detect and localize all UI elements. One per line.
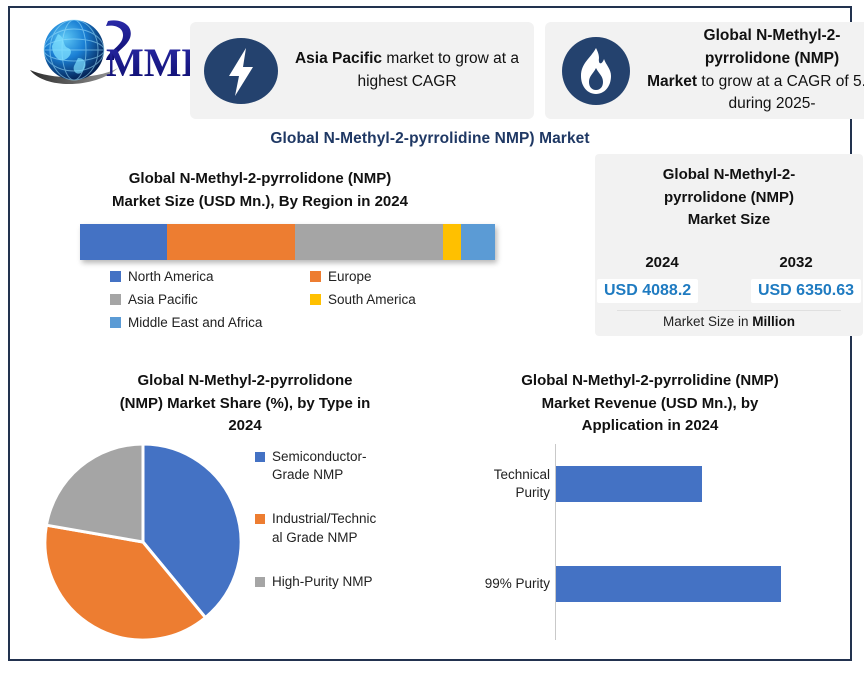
legend-label-semiconductor-grade-line2: Grade NMP: [272, 467, 343, 482]
mmr-globe-logo: MMR: [22, 14, 194, 94]
application-chart-title-line1: Global N-Methyl-2-pyrrolidine (NMP): [450, 370, 850, 393]
highlight-box-asia-pacific: Asia Pacific market to grow at a highest…: [190, 22, 534, 119]
market-size-values: USD 4088.2 USD 6350.63: [595, 279, 863, 303]
legend-label-middle-east-africa: Middle East and Africa: [128, 315, 262, 330]
region-chart-title: Global N-Methyl-2-pyrrolidone (NMP) Mark…: [50, 168, 470, 213]
legend-label-south-america: South America: [328, 292, 416, 307]
legend-item-semiconductor-grade: Semiconductor- Grade NMP: [255, 448, 435, 484]
logo-wordmark: MMR: [106, 40, 194, 85]
market-size-value-2032: USD 6350.63: [751, 279, 861, 303]
legend-swatch-south-america: [310, 294, 321, 305]
market-size-value-2024: USD 4088.2: [597, 279, 698, 303]
legend-label-industrial-technical-grade: Industrial/Technic al Grade NMP: [272, 510, 376, 546]
legend-swatch-semiconductor-grade: [255, 452, 265, 462]
legend-label-europe: Europe: [328, 269, 372, 284]
legend-label-industrial-technical-grade-line2: al Grade NMP: [272, 530, 358, 545]
pie-chart-legend: Semiconductor- Grade NMP Industrial/Tech…: [255, 448, 435, 617]
highlight-line1-cagr: Global N-Methyl-2-: [704, 27, 841, 44]
application-label-99-purity: 99% Purity: [450, 575, 556, 593]
market-size-year-start: 2024: [645, 254, 678, 271]
application-revenue-bar-chart: Technical Purity 99% Purity: [450, 444, 850, 644]
region-stacked-bar: [80, 224, 495, 260]
application-chart-title-line3: Application in 2024: [450, 415, 850, 438]
flame-icon: [557, 32, 635, 110]
application-bar-row-technical-purity: Technical Purity: [450, 466, 850, 502]
region-chart-title-line1: Global N-Methyl-2-pyrrolidone (NMP): [50, 168, 470, 191]
infographic-frame: MMR Asia Pacific market to grow at a hig…: [8, 6, 852, 661]
legend-swatch-industrial-technical-grade: [255, 514, 265, 524]
highlight-bold-cagr: Market: [647, 73, 697, 90]
pie-chart-title-line2: (NMP) Market Share (%), by Type in: [45, 393, 445, 416]
pie-chart-title-line3: 2024: [45, 415, 445, 438]
highlight-text-cagr: Global N-Methyl-2- pyrrolidone (NMP) Mar…: [635, 25, 864, 117]
legend-item-north-america: North America: [110, 269, 310, 284]
region-segment-south-america: [443, 224, 461, 260]
legend-label-asia-pacific: Asia Pacific: [128, 292, 198, 307]
type-share-pie: [42, 436, 252, 648]
application-label-technical-purity-line2: Purity: [450, 484, 550, 502]
highlight-text-asia-pacific: Asia Pacific market to grow at a highest…: [280, 48, 534, 94]
region-segment-north-america: [80, 224, 167, 260]
market-size-years: 2024 2032: [595, 254, 863, 271]
legend-item-middle-east-africa: Middle East and Africa: [110, 315, 310, 330]
highlight-rest-asia-pacific: market to grow at a highest CAGR: [357, 50, 519, 90]
legend-item-high-purity: High-Purity NMP: [255, 573, 435, 591]
market-size-unit-prefix: Market Size in: [663, 314, 752, 329]
region-segment-europe: [167, 224, 295, 260]
market-size-panel: Global N-Methyl-2- pyrrolidone (NMP) Mar…: [595, 154, 863, 336]
legend-item-industrial-technical-grade: Industrial/Technic al Grade NMP: [255, 510, 435, 546]
legend-swatch-high-purity: [255, 577, 265, 587]
legend-item-europe: Europe: [310, 269, 372, 284]
market-size-title-line1: Global N-Methyl-2-: [595, 164, 863, 187]
highlight-box-cagr: Global N-Methyl-2- pyrrolidone (NMP) Mar…: [545, 22, 864, 119]
legend-swatch-europe: [310, 271, 321, 282]
legend-swatch-middle-east-africa: [110, 317, 121, 328]
legend-label-industrial-technical-grade-line1: Industrial/Technic: [272, 511, 376, 526]
legend-item-asia-pacific: Asia Pacific: [110, 292, 310, 307]
lightning-bolt-icon: [202, 32, 280, 110]
application-bar-99-purity: [556, 566, 781, 602]
region-chart-legend: North America Europe Asia Pacific South …: [110, 265, 510, 334]
legend-swatch-asia-pacific: [110, 294, 121, 305]
market-size-unit-bold: Million: [752, 314, 795, 329]
highlight-line2-cagr: pyrrolidone (NMP): [705, 50, 839, 67]
pie-chart-title-line1: Global N-Methyl-2-pyrrolidone: [45, 370, 445, 393]
market-size-unit-note: Market Size in Million: [617, 310, 841, 329]
legend-label-semiconductor-grade-line1: Semiconductor-: [272, 449, 367, 464]
application-bar-technical-purity: [556, 466, 702, 502]
legend-label-semiconductor-grade: Semiconductor- Grade NMP: [272, 448, 367, 484]
legend-item-south-america: South America: [310, 292, 416, 307]
region-segment-asia-pacific: [295, 224, 443, 260]
legend-swatch-north-america: [110, 271, 121, 282]
legend-label-high-purity: High-Purity NMP: [272, 573, 373, 591]
highlight-bold-asia-pacific: Asia Pacific: [295, 50, 382, 67]
application-chart-title: Global N-Methyl-2-pyrrolidine (NMP) Mark…: [450, 370, 850, 438]
highlight-rest-cagr: to grow at a CAGR of 5.66% during 2025-: [697, 73, 864, 113]
application-label-technical-purity: Technical Purity: [450, 466, 556, 501]
pie-chart-title: Global N-Methyl-2-pyrrolidone (NMP) Mark…: [45, 370, 445, 438]
application-label-99-purity-line1: 99% Purity: [450, 575, 550, 593]
logo-graphic: MMR: [22, 14, 194, 94]
region-segment-middle-east-africa: [461, 224, 495, 260]
page-title: Global N-Methyl-2-pyrrolidine NMP) Marke…: [10, 130, 850, 148]
market-size-title-line3: Market Size: [595, 209, 863, 232]
application-label-technical-purity-line1: Technical: [450, 466, 550, 484]
market-size-year-end: 2032: [779, 254, 812, 271]
market-size-title-line2: pyrrolidone (NMP): [595, 187, 863, 210]
application-bar-row-99-purity: 99% Purity: [450, 566, 850, 602]
pie-slice-high-purity: [46, 444, 143, 542]
market-size-title: Global N-Methyl-2- pyrrolidone (NMP) Mar…: [595, 164, 863, 232]
application-chart-title-line2: Market Revenue (USD Mn.), by: [450, 393, 850, 416]
legend-label-north-america: North America: [128, 269, 214, 284]
region-chart-title-line2: Market Size (USD Mn.), By Region in 2024: [50, 191, 470, 214]
